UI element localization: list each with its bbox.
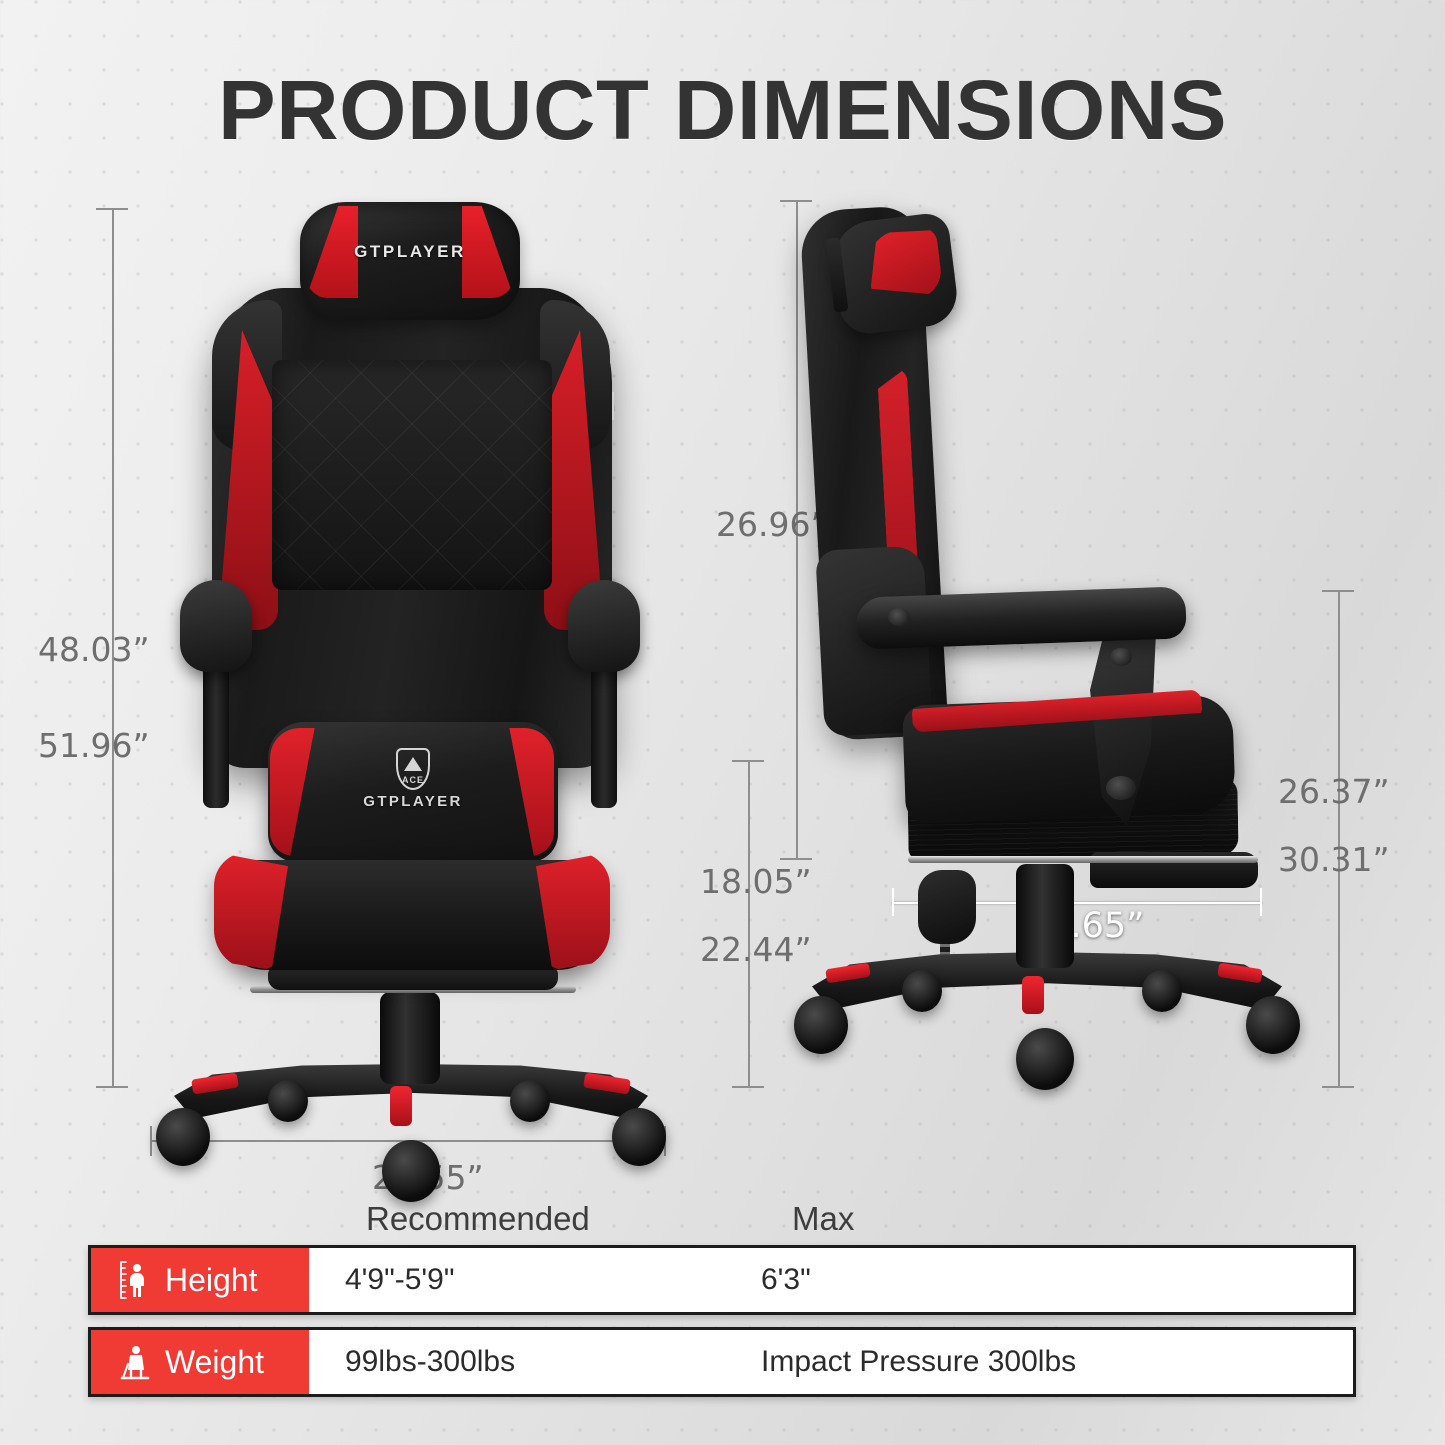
side-depth-cap-bottom [1322, 1086, 1354, 1088]
front-armrest-post-left [203, 658, 229, 808]
side-caster-right [1142, 970, 1182, 1012]
column-header-max: Max [792, 1200, 854, 1238]
height-max-value: 6'3" [739, 1248, 1353, 1312]
side-seat-height-rule [748, 760, 750, 1088]
height-row-label: Height [165, 1262, 258, 1299]
height-recommended-value: 4'9"-5'9" [309, 1248, 739, 1312]
side-seat-height-cap-top [732, 760, 764, 762]
chair-side-view [790, 180, 1290, 1100]
front-height-cap-bottom [96, 1086, 128, 1088]
front-caster-far-left [156, 1108, 210, 1166]
side-gas-cylinder [1016, 864, 1074, 968]
side-seat-height-min-label: 18.05” [700, 862, 812, 901]
front-height-cap-top [96, 208, 128, 210]
infographic-canvas: PRODUCT DIMENSIONS GTPLAYER ACE GTPLAYER [0, 0, 1445, 1445]
side-seat-height-max-label: 22.44” [700, 930, 812, 969]
weight-badge: Weight [91, 1330, 309, 1394]
side-caster-far-right [1246, 996, 1300, 1054]
side-tilt-lever [918, 870, 976, 944]
front-gas-cylinder [380, 992, 440, 1084]
front-height-upper-label: 48.03” [38, 630, 150, 669]
height-badge: Height [91, 1248, 309, 1312]
side-depth-min-label: 26.37” [1278, 772, 1390, 811]
side-base-depth-cap-left [892, 888, 894, 916]
side-armrest-lower-pivot [1106, 776, 1136, 800]
side-armrest-pivot-front [888, 608, 910, 626]
front-footrest [268, 968, 558, 990]
front-armrest-left [180, 580, 252, 672]
side-depth-max-label: 30.31” [1278, 840, 1390, 879]
headrest-brand-logo: GTPLAYER [300, 242, 520, 262]
side-depth-cap-top [1322, 590, 1354, 592]
side-caster-left [902, 970, 942, 1012]
side-seat-height-cap-bottom [732, 1086, 764, 1088]
chair-front-view: GTPLAYER ACE GTPLAYER [150, 180, 670, 1100]
front-base-red-accent-center [390, 1086, 412, 1126]
lumbar-logo-group: ACE GTPLAYER [268, 748, 558, 810]
overall-width-cap-left [150, 1126, 152, 1156]
front-caster-far-right [612, 1108, 666, 1166]
height-person-icon [117, 1260, 151, 1300]
ace-shield-text: ACE [398, 775, 428, 785]
side-backrest-cap-bottom [780, 858, 812, 860]
weight-row-label: Weight [165, 1344, 264, 1381]
spec-row-weight: Weight 99lbs-300lbs Impact Pressure 300l… [88, 1327, 1356, 1397]
side-armrest-pivot-rear [1110, 648, 1132, 666]
weight-max-value: Impact Pressure 300lbs [739, 1330, 1353, 1394]
page-title: PRODUCT DIMENSIONS [0, 62, 1445, 159]
side-caster-center [1016, 1028, 1074, 1090]
front-armrest-right [568, 580, 640, 672]
weight-scale-icon [117, 1342, 151, 1382]
front-caster-left [268, 1080, 308, 1122]
side-base-red-accent-center [1022, 976, 1044, 1014]
side-base-depth-cap-right [1260, 888, 1262, 916]
weight-recommended-value: 99lbs-300lbs [309, 1330, 739, 1394]
lumbar-brand-logo: GTPLAYER [268, 793, 558, 810]
ace-shield-icon: ACE [396, 748, 430, 790]
side-backrest-cap-top [780, 200, 812, 202]
front-armrest-post-right [591, 658, 617, 808]
side-depth-rule [1338, 590, 1340, 1088]
side-caster-far-left [794, 996, 848, 1054]
side-backrest-height-label: 26.96” [716, 505, 828, 544]
front-backrest-quilting [272, 360, 552, 590]
backrest-width-cap-right [612, 392, 614, 420]
front-caster-right [510, 1080, 550, 1122]
front-height-lower-label: 51.96” [38, 726, 150, 765]
side-footrest-rail [908, 856, 1258, 863]
front-caster-center [382, 1140, 440, 1202]
spec-row-height: Height 4'9"-5'9" 6'3" [88, 1245, 1356, 1315]
column-header-recommended: Recommended [366, 1200, 590, 1238]
